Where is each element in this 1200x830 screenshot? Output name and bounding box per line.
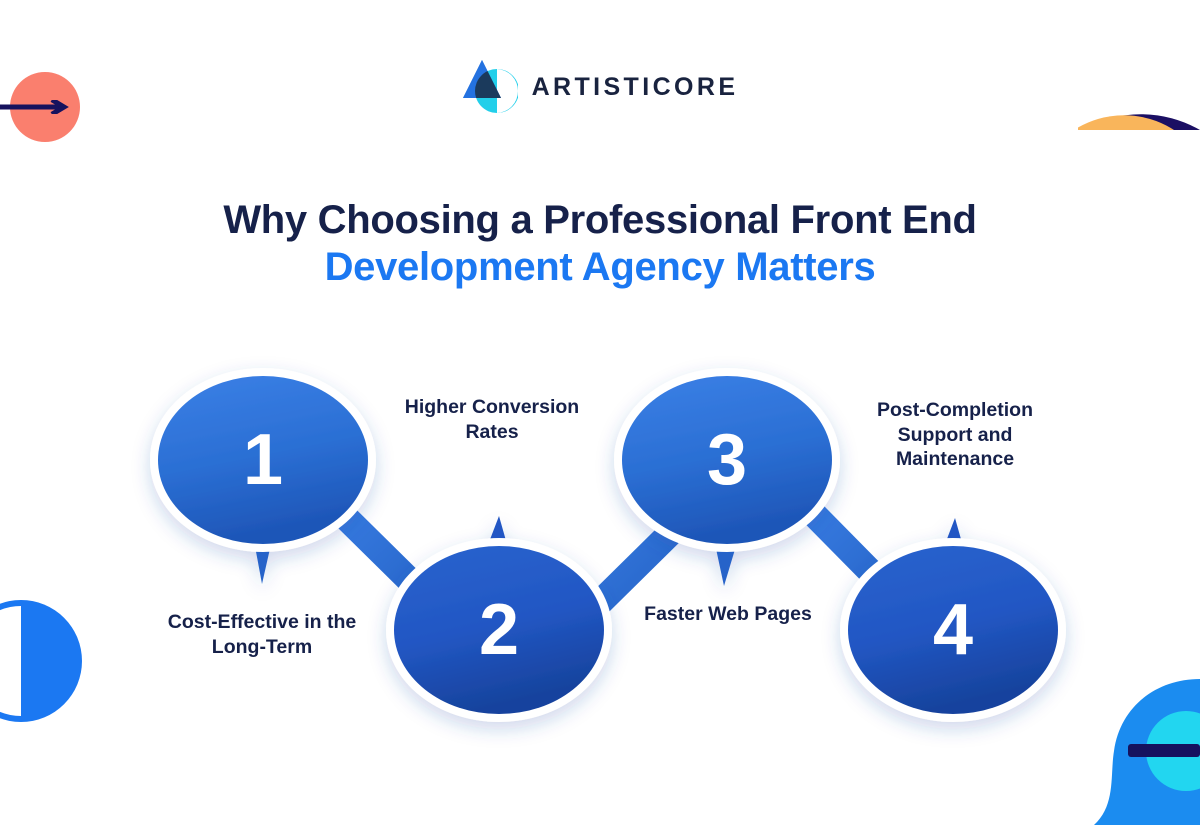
step-labels: Cost-Effective in the Long-Term Higher C… xyxy=(0,340,1200,790)
page-title-line-2: Development Agency Matters xyxy=(0,244,1200,291)
page-title: Why Choosing a Professional Front End De… xyxy=(0,197,1200,291)
step-label-3: Faster Web Pages xyxy=(628,602,828,627)
step-label-2: Higher Conversion Rates xyxy=(378,395,606,444)
step-label-1: Cost-Effective in the Long-Term xyxy=(148,610,376,659)
page-title-line-1: Why Choosing a Professional Front End xyxy=(0,197,1200,244)
brand-wordmark: ARTISTICORE xyxy=(532,75,739,100)
artisticore-logo-icon xyxy=(462,58,518,116)
infographic-canvas: ARTISTICORE Why Choosing a Professional … xyxy=(0,0,1200,830)
brand-logo: ARTISTICORE xyxy=(0,58,1200,116)
step-label-4: Post-Completion Support and Maintenance xyxy=(845,398,1065,472)
